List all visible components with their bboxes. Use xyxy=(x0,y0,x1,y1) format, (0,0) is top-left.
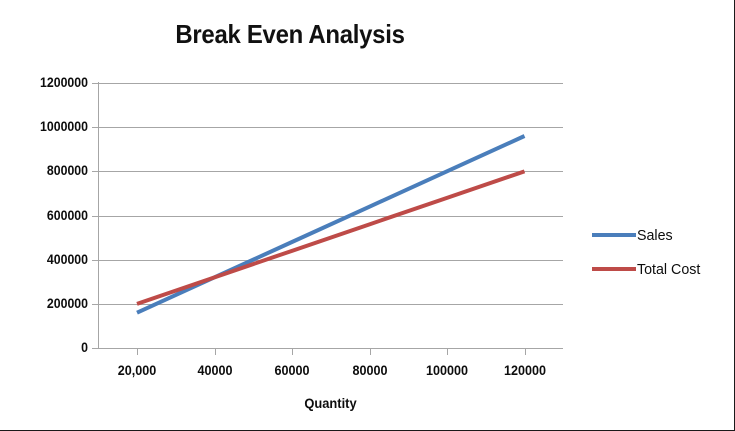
legend-color-swatch xyxy=(592,233,636,237)
legend-label: Sales xyxy=(637,227,673,244)
x-axis-tick xyxy=(292,349,293,355)
y-axis-tick-label: 400000 xyxy=(11,251,88,267)
legend-color-swatch xyxy=(592,267,636,271)
x-axis-tick-label: 40000 xyxy=(174,362,255,378)
y-axis-tick-label: 600000 xyxy=(11,207,88,223)
x-axis-tick-label: 60000 xyxy=(252,362,333,378)
chart-legend: SalesTotal Cost xyxy=(592,218,732,286)
series-line-sales xyxy=(137,136,525,313)
x-axis-tick-label: 20,000 xyxy=(97,362,178,378)
plot-area xyxy=(98,83,563,348)
chart-title: Break Even Analysis xyxy=(23,19,557,50)
gridline xyxy=(98,348,563,349)
y-axis-tick-label: 800000 xyxy=(11,162,88,178)
x-axis-tick-label: 80000 xyxy=(329,362,410,378)
x-axis-tick xyxy=(137,349,138,355)
chart-container: Break Even Analysis 02000004000006000008… xyxy=(0,0,735,431)
legend-label: Total Cost xyxy=(637,261,700,278)
legend-entry[interactable]: Total Cost xyxy=(592,252,732,286)
y-axis-tick-label: 0 xyxy=(11,339,88,355)
series-line-total-cost xyxy=(137,171,525,304)
x-axis-title: Quantity xyxy=(117,395,545,411)
legend-entry[interactable]: Sales xyxy=(592,218,732,252)
x-axis-tick-label: 120000 xyxy=(484,362,565,378)
y-axis-tick-label: 1200000 xyxy=(11,74,88,90)
x-axis-tick xyxy=(447,349,448,355)
y-axis-tick-labels: 020000040000060000080000010000001200000 xyxy=(0,0,88,431)
x-axis-tick-label: 100000 xyxy=(407,362,488,378)
y-axis-tick-label: 200000 xyxy=(11,295,88,311)
data-series-layer xyxy=(98,83,563,348)
y-axis-tick-label: 1000000 xyxy=(11,118,88,134)
x-axis-tick xyxy=(370,349,371,355)
x-axis-tick xyxy=(525,349,526,355)
x-axis-tick xyxy=(215,349,216,355)
